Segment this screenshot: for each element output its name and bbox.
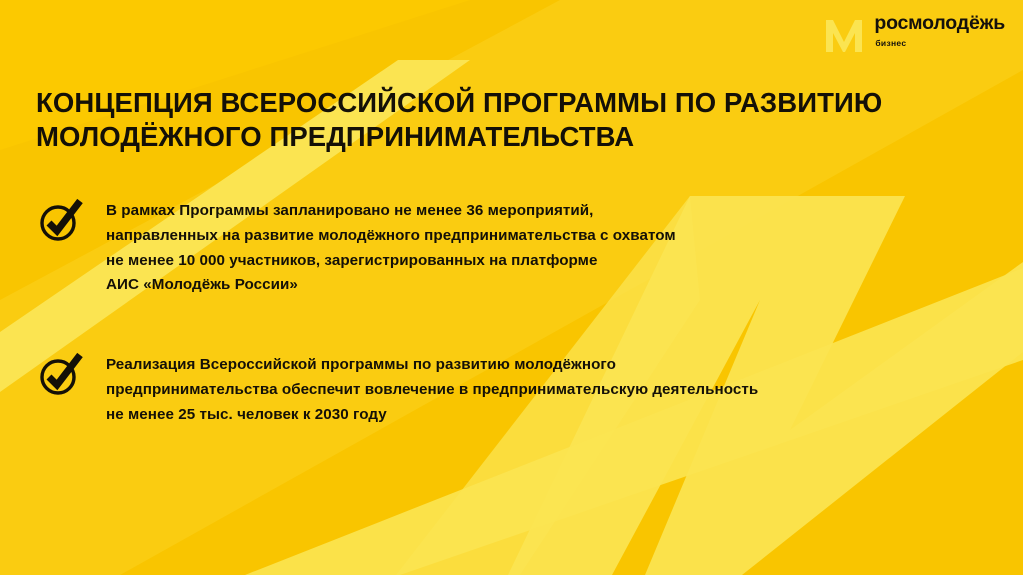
check-circle-icon — [36, 198, 86, 244]
m-lightning-mark-icon — [824, 16, 864, 56]
bullet-text: Реализация Всероссийской программы по ра… — [106, 350, 758, 427]
slide: росмолодёжь бизнес Концепция всероссийск… — [0, 0, 1023, 575]
page-title: Концепция всероссийской программы по раз… — [36, 86, 916, 154]
bullet-item: В рамках Программы запланировано не мене… — [36, 196, 936, 298]
bullet-item: Реализация Всероссийской программы по ра… — [36, 350, 936, 427]
brand-subbrand: бизнес — [875, 39, 906, 48]
bullet-text: В рамках Программы запланировано не мене… — [106, 196, 676, 298]
brand-logo-words: росмолодёжь бизнес — [874, 14, 1005, 47]
bullet-list: В рамках Программы запланировано не мене… — [36, 196, 936, 427]
brand-logo: росмолодёжь бизнес — [824, 14, 1005, 56]
brand-name: росмолодёжь — [874, 14, 1005, 34]
check-circle-icon — [36, 352, 86, 398]
